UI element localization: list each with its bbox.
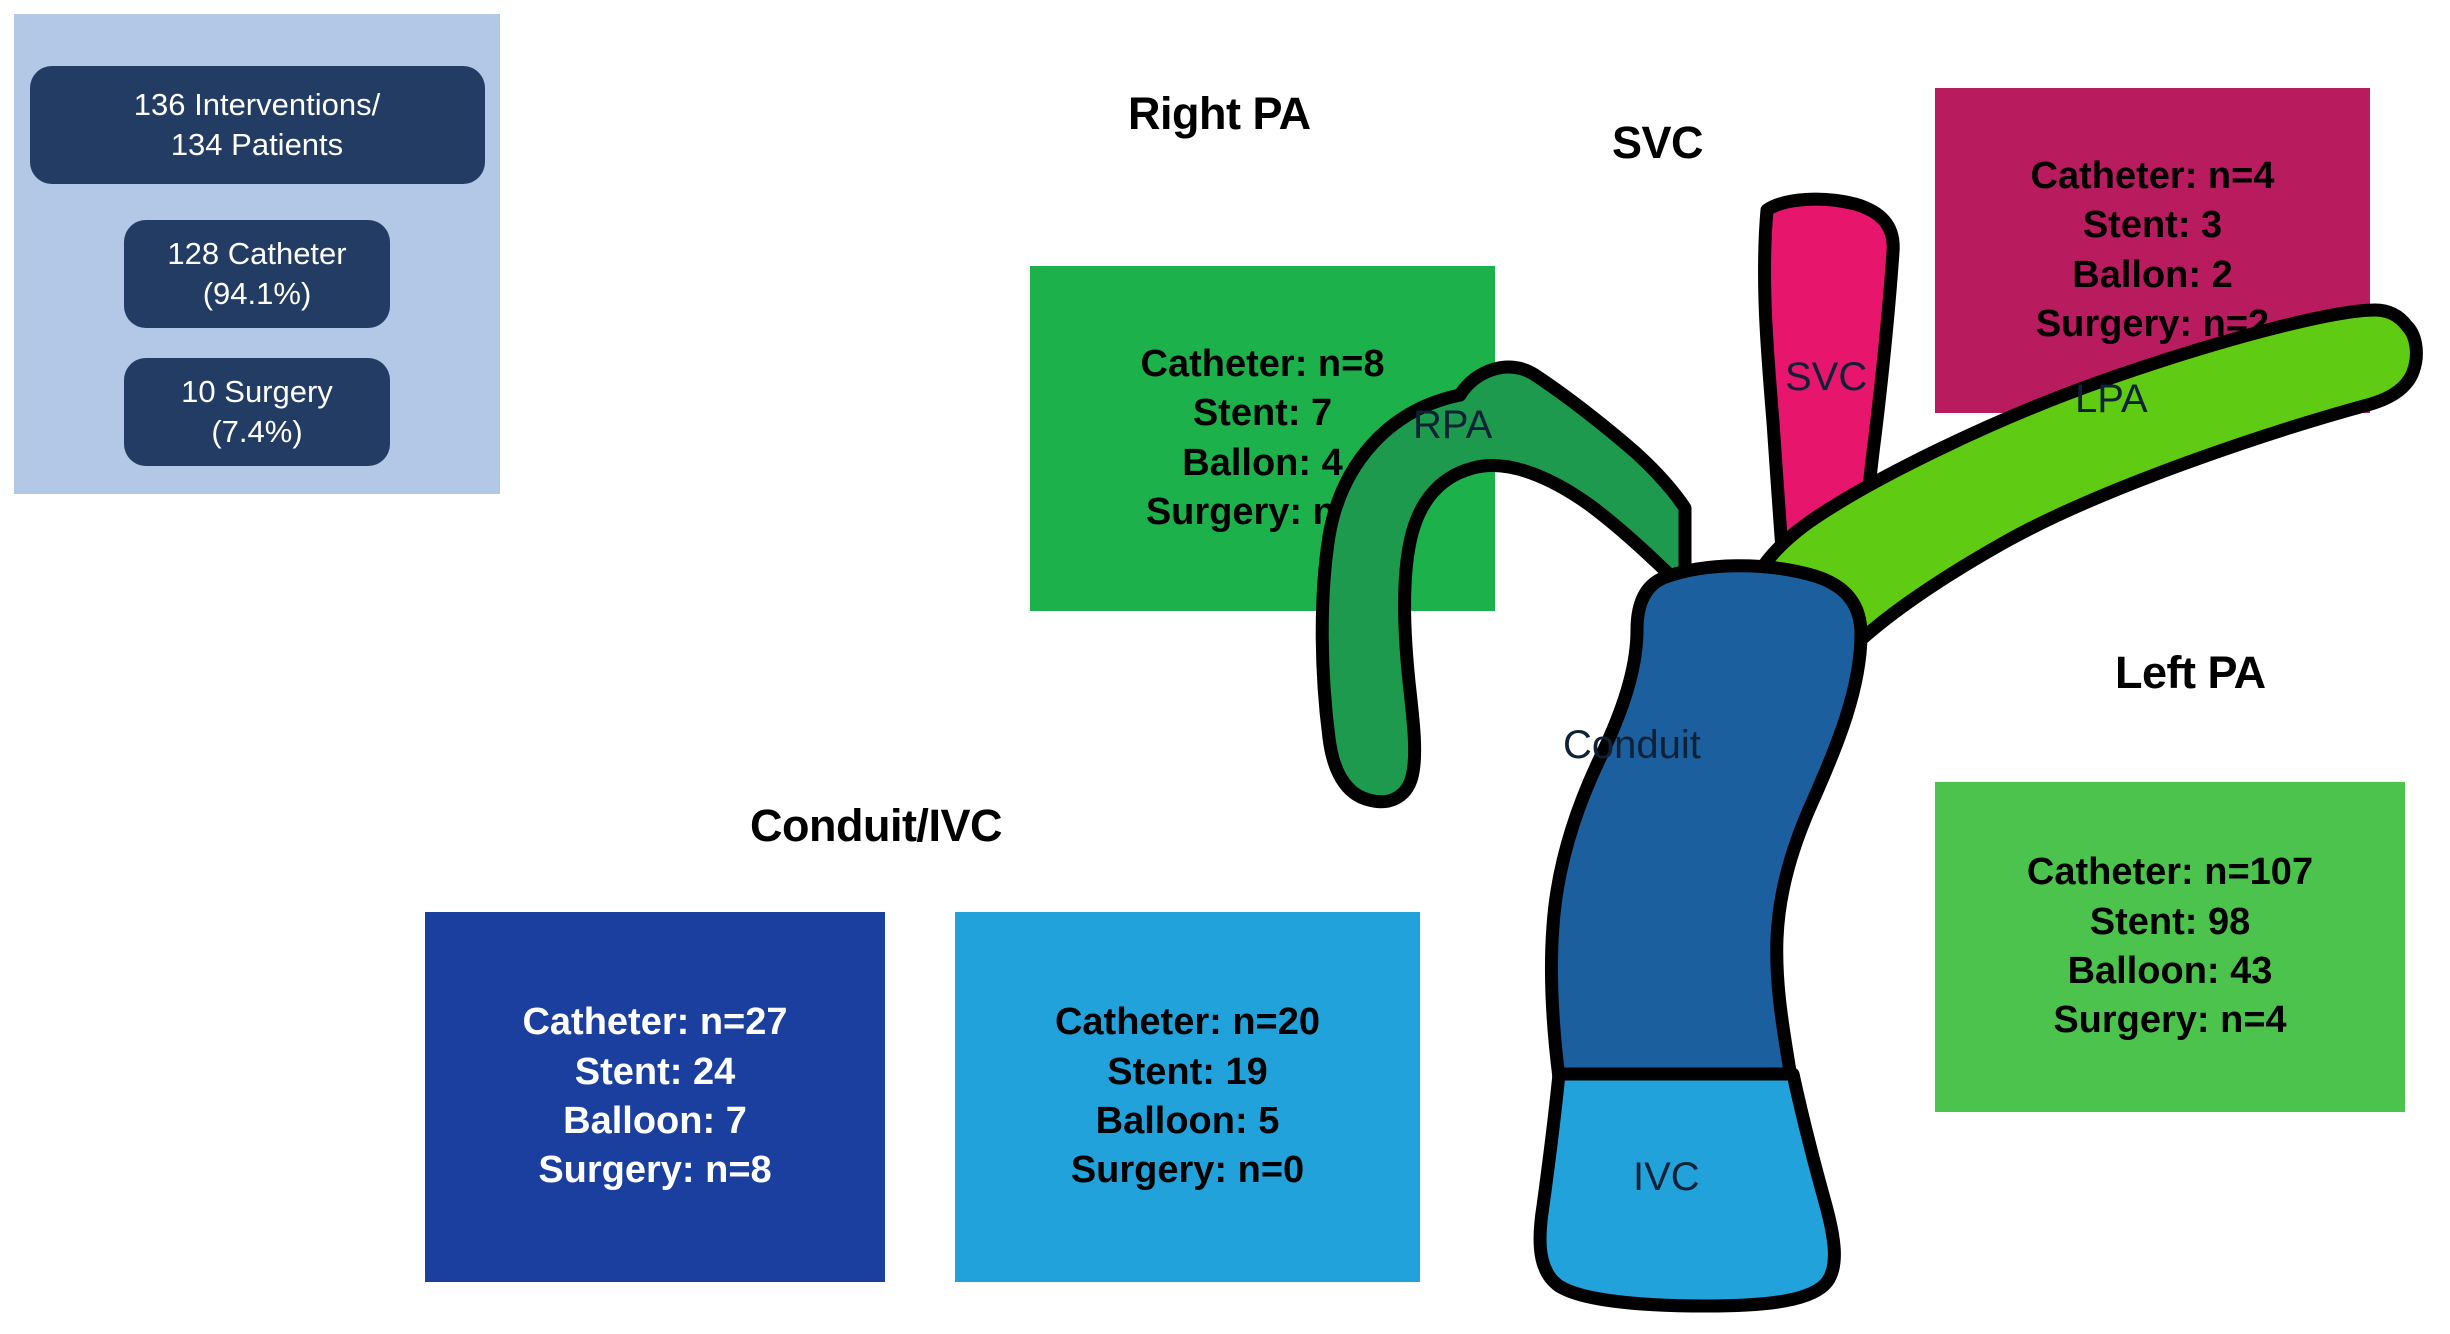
summary-total-line1: 136 Interventions/: [134, 85, 380, 125]
summary-surgery-line2: (7.4%): [211, 412, 302, 452]
anatomy-label-rpa: RPA: [1413, 403, 1493, 447]
anatomy-label-ivc: IVC: [1633, 1155, 1700, 1199]
summary-catheter-line2: (94.1%): [203, 274, 312, 314]
conduit-surgery: Surgery: n=8: [439, 1146, 871, 1195]
summary-box-catheter: 128 Catheter (94.1%): [124, 220, 390, 328]
anatomy-label-lpa: LPA: [2075, 377, 2148, 421]
fontan-anatomy-illustration: SVC RPA LPA Conduit IVC: [1315, 190, 2435, 1334]
summary-surgery-line1: 10 Surgery: [181, 372, 333, 412]
conduit-stent: Stent: 24: [439, 1048, 871, 1097]
summary-catheter-line1: 128 Catheter: [167, 234, 346, 274]
anatomy-label-conduit: Conduit: [1563, 723, 1701, 767]
summary-panel: 136 Interventions/ 134 Patients 128 Cath…: [14, 14, 500, 494]
conduit-vessel-shape: [1551, 566, 1861, 1078]
heading-svc: SVC: [1612, 117, 1703, 169]
heading-right-pa: Right PA: [1128, 88, 1311, 140]
conduit-catheter: Catheter: n=27: [439, 998, 871, 1047]
summary-box-surgery: 10 Surgery (7.4%): [124, 358, 390, 466]
summary-total-line2: 134 Patients: [171, 125, 343, 165]
diagram-canvas: 136 Interventions/ 134 Patients 128 Cath…: [0, 0, 2450, 1334]
anatomy-label-svc: SVC: [1785, 355, 1867, 399]
conduit-balloon: Balloon: 7: [439, 1097, 871, 1146]
summary-box-total-interventions: 136 Interventions/ 134 Patients: [30, 66, 485, 184]
heading-conduit-ivc: Conduit/IVC: [750, 800, 1002, 852]
data-box-conduit: Catheter: n=27 Stent: 24 Balloon: 7 Surg…: [425, 912, 885, 1282]
